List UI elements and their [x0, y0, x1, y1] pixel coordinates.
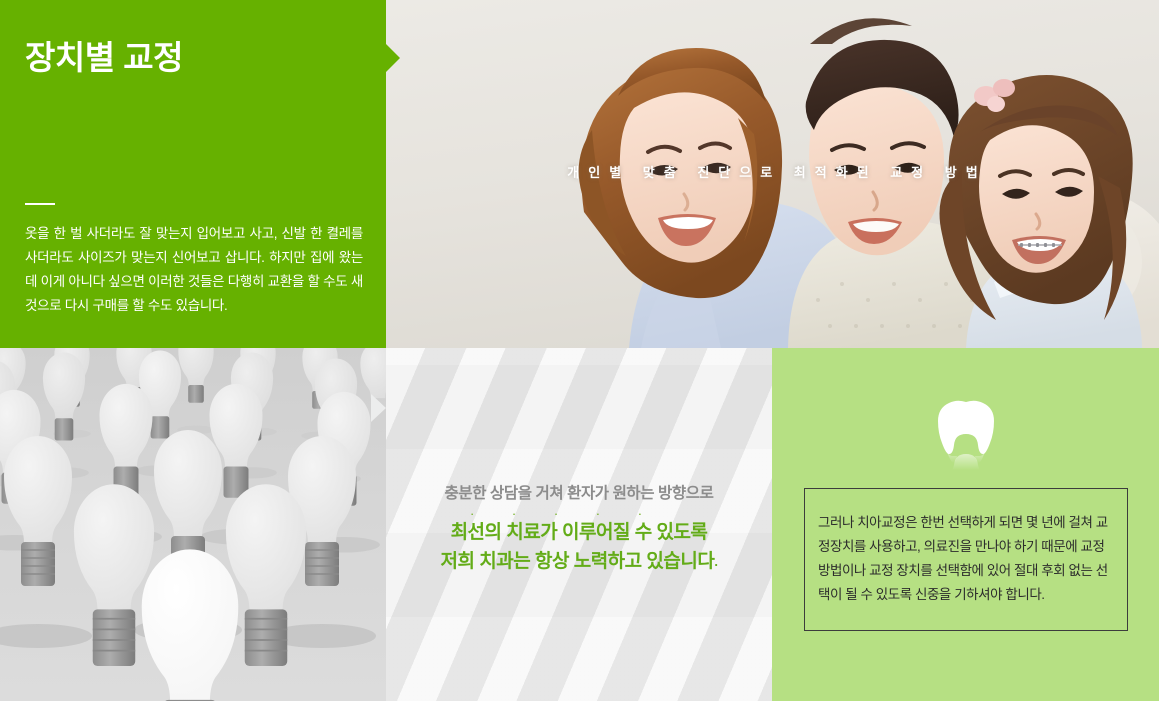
slogan-panel: 충분한 상담을 거쳐 환자가 원하는 방향으로 · · · · · 최선의 치료…: [386, 348, 772, 701]
triangle-right-icon: [371, 394, 386, 422]
intro-panel: 장치별 교정 옷을 한 벌 사더라도 잘 맞는지 입어보고 사고, 신발 한 켤…: [0, 0, 386, 348]
notice-body-text: 그러나 치아교정은 한번 선택하게 되면 몇 년에 걸쳐 교정장치를 사용하고,…: [818, 511, 1116, 607]
notice-panel: 그러나 치아교정은 한번 선택하게 되면 몇 년에 걸쳐 교정장치를 사용하고,…: [772, 348, 1159, 701]
hero-caption: 개인별 맞춤 진단으로 최적화된 교정 방법: [386, 162, 1159, 181]
bottom-section: 충분한 상담을 거쳐 환자가 원하는 방향으로 · · · · · 최선의 치료…: [0, 348, 1159, 701]
notice-text-box: 그러나 치아교정은 한번 선택하게 되면 몇 년에 걸쳐 교정장치를 사용하고,…: [804, 488, 1128, 631]
slogan-line-1: 충분한 상담을 거쳐 환자가 원하는 방향으로: [386, 481, 772, 506]
tooth-icon: [934, 398, 998, 475]
slogan-line-3-text: 저희 치과는 항상 노력하고 있습니다: [441, 551, 715, 572]
page-title: 장치별 교정: [25, 38, 183, 78]
intro-body-text: 옷을 한 벌 사더라도 잘 맞는지 입어보고 사고, 신발 한 켤레를 사더라도…: [25, 222, 363, 318]
lightbulbs-photo: [0, 348, 386, 701]
orthodontics-landing-page: 장치별 교정 옷을 한 벌 사더라도 잘 맞는지 입어보고 사고, 신발 한 켤…: [0, 0, 1159, 701]
slogan-text-block: 충분한 상담을 거쳐 환자가 원하는 방향으로 · · · · · 최선의 치료…: [386, 481, 772, 576]
slogan-period: .: [714, 554, 717, 569]
top-section: 장치별 교정 옷을 한 벌 사더라도 잘 맞는지 입어보고 사고, 신발 한 켤…: [0, 0, 1159, 348]
family-portrait-photo: 개인별 맞춤 진단으로 최적화된 교정 방법: [386, 0, 1159, 348]
triangle-right-icon: [386, 44, 400, 72]
slogan-line-2: 최선의 치료가 이루어질 수 있도록: [386, 518, 772, 547]
slogan-line-3: 저희 치과는 항상 노력하고 있습니다.: [386, 547, 772, 576]
title-divider-rule: [25, 203, 55, 205]
